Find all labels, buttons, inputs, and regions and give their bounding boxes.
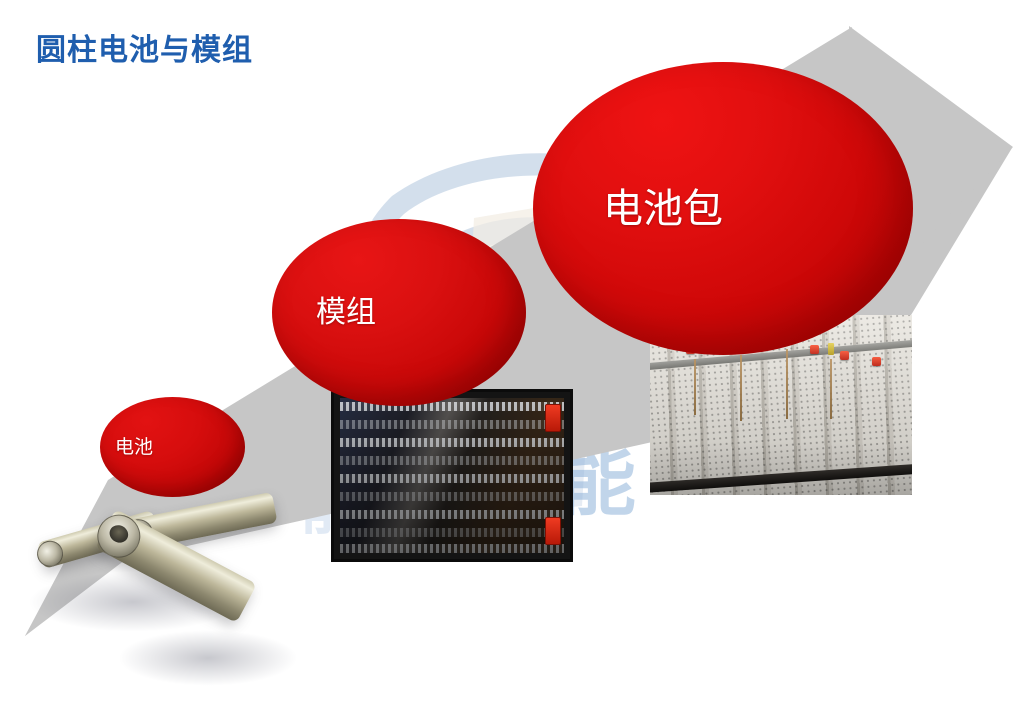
bubble-pack-label: 电池包 — [603, 189, 723, 229]
bubble-cell-label: 电池 — [115, 438, 153, 457]
cylindrical-cells-photo — [8, 480, 308, 710]
bubble-module[interactable]: 模组 — [272, 219, 526, 406]
battery-module-photo — [331, 389, 573, 562]
bubble-pack[interactable]: 电池包 — [533, 62, 913, 355]
module-terminal — [545, 517, 561, 545]
bubble-cell[interactable]: 电池 — [100, 397, 245, 497]
bubble-module-label: 模组 — [316, 298, 376, 328]
module-photo-shade — [340, 398, 564, 553]
module-terminal — [545, 404, 561, 432]
slide-canvas: 能 能 — [0, 0, 1020, 715]
cell-cap-icon — [34, 538, 66, 570]
page-title: 圆柱电池与模组 — [36, 34, 253, 67]
module-photo-inner — [340, 398, 564, 553]
cell-shadow — [118, 630, 298, 686]
